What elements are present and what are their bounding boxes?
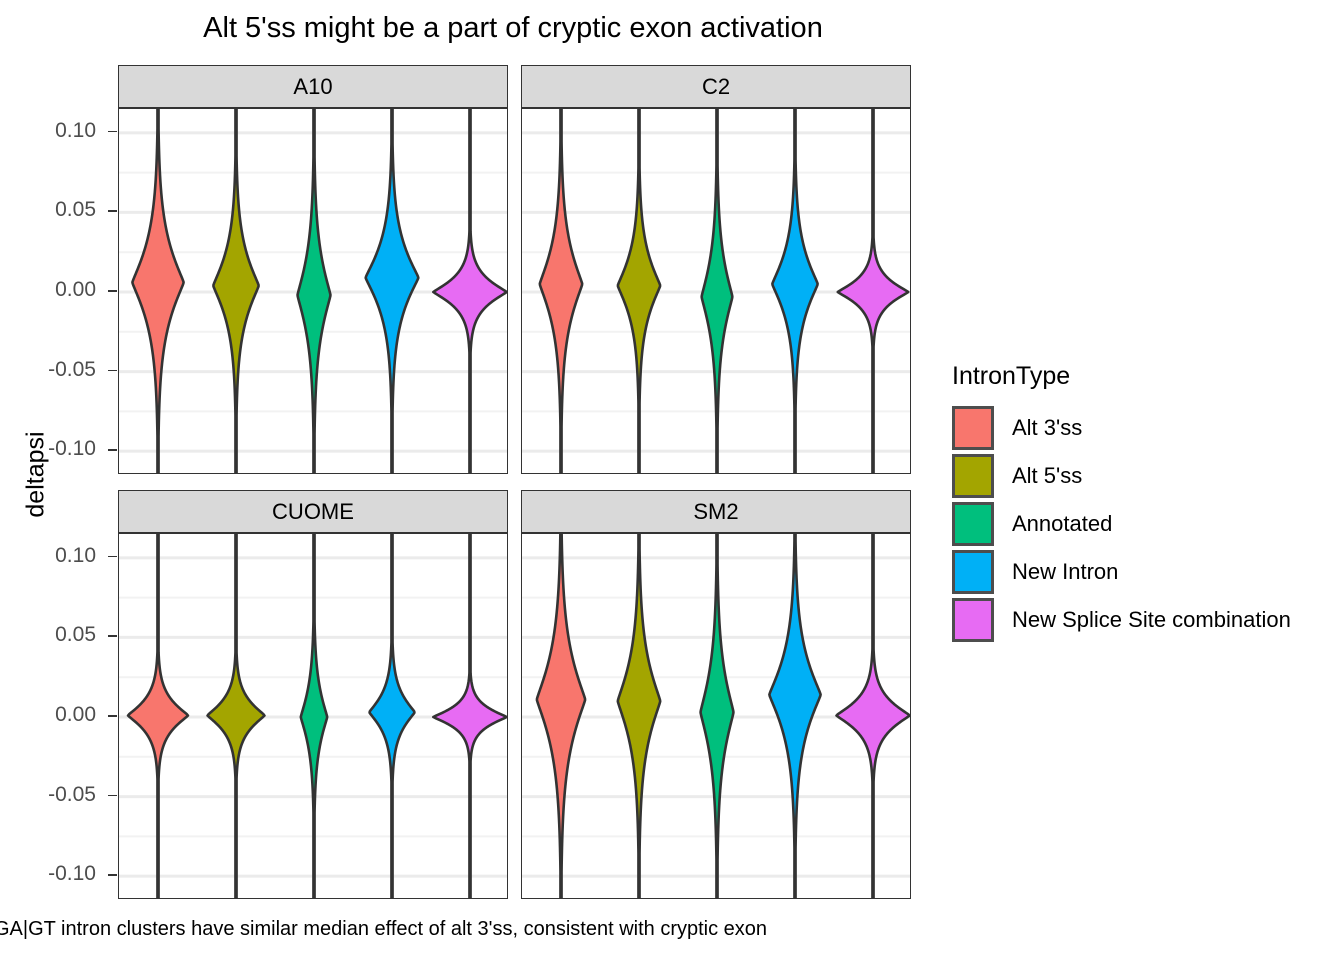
legend-item-4[interactable]: New Splice Site combination <box>952 598 1291 642</box>
y-axis-tick-label: 0.10 <box>26 544 96 568</box>
legend-title: IntronType <box>952 362 1070 391</box>
y-axis-tick-label: 0.10 <box>26 119 96 143</box>
facet-strip-label: CUOME <box>272 499 354 525</box>
violin-c2-4 <box>838 109 908 474</box>
y-tick-row: 0.00 <box>26 703 96 727</box>
violin-sm2-1 <box>618 534 660 899</box>
y-axis-title: deltapsi <box>22 415 51 535</box>
violin-a10-2 <box>298 109 331 474</box>
page-title: Alt 5'ss might be a part of cryptic exon… <box>118 10 908 46</box>
y-tick-row: 0.10 <box>26 119 96 143</box>
legend-item-label: Alt 5'ss <box>1012 463 1082 489</box>
y-tick-row: -0.10 <box>26 437 96 461</box>
violin-plot-figure: Alt 5'ss might be a part of cryptic exon… <box>0 0 1344 960</box>
legend-item-label: New Splice Site combination <box>1012 607 1291 633</box>
y-tick-row: 0.05 <box>26 198 96 222</box>
y-axis-tick-mark <box>108 874 117 876</box>
y-axis-tick-label: 0.05 <box>26 623 96 647</box>
violin-c2-0 <box>540 109 582 474</box>
legend-item-3[interactable]: New Intron <box>952 550 1118 594</box>
facet-strip-c2: C2 <box>521 65 911 108</box>
violin-a10-4 <box>433 109 506 474</box>
facet-panel-cuome <box>118 533 508 899</box>
y-tick-row: 0.10 <box>26 544 96 568</box>
y-axis-tick-label: -0.05 <box>26 783 96 807</box>
legend-color-swatch <box>952 550 994 594</box>
facet-strip-label: SM2 <box>693 499 738 525</box>
figure-caption: GA|GT intron clusters have similar media… <box>0 918 767 941</box>
y-axis-tick-label: -0.10 <box>26 437 96 461</box>
violin-a10-1 <box>213 109 258 474</box>
legend-item-label: New Intron <box>1012 559 1118 585</box>
y-tick-row: -0.05 <box>26 783 96 807</box>
violin-c2-2 <box>702 109 733 474</box>
facet-panel-sm2 <box>521 533 911 899</box>
y-axis-tick-mark <box>108 715 117 717</box>
violin-sm2-0 <box>537 534 585 899</box>
y-axis-tick-label: -0.10 <box>26 862 96 886</box>
y-tick-row: 0.00 <box>26 278 96 302</box>
y-axis-tick-label: 0.05 <box>26 198 96 222</box>
violin-c2-3 <box>772 109 817 474</box>
facet-strip-a10: A10 <box>118 65 508 108</box>
legend-item-1[interactable]: Alt 5'ss <box>952 454 1082 498</box>
y-axis-tick-mark <box>108 795 117 797</box>
legend-color-swatch <box>952 454 994 498</box>
y-axis-tick-mark <box>108 210 117 212</box>
violin-cuome-0 <box>128 534 188 899</box>
violin-a10-0 <box>132 109 183 474</box>
y-axis-tick-mark <box>108 290 117 292</box>
legend-color-swatch <box>952 406 994 450</box>
y-axis-tick-label: -0.05 <box>26 358 96 382</box>
y-axis-tick-mark <box>108 449 117 451</box>
violin-sm2-4 <box>837 534 910 899</box>
legend-item-2[interactable]: Annotated <box>952 502 1112 546</box>
violin-a10-3 <box>366 109 419 474</box>
violin-c2-1 <box>618 109 660 474</box>
y-axis-tick-mark <box>108 556 117 558</box>
facet-strip-label: C2 <box>702 74 730 100</box>
violin-sm2-3 <box>769 534 820 899</box>
facet-panel-c2 <box>521 108 911 474</box>
y-axis-tick-mark <box>108 635 117 637</box>
violin-cuome-3 <box>370 534 415 899</box>
legend-color-swatch <box>952 502 994 546</box>
violin-cuome-4 <box>433 534 506 899</box>
y-axis-tick-mark <box>108 370 117 372</box>
facet-strip-cuome: CUOME <box>118 490 508 533</box>
violin-cuome-1 <box>208 534 265 899</box>
y-axis-tick-label: 0.00 <box>26 703 96 727</box>
legend-color-swatch <box>952 598 994 642</box>
legend-item-0[interactable]: Alt 3'ss <box>952 406 1082 450</box>
facet-strip-label: A10 <box>293 74 332 100</box>
legend-item-label: Alt 3'ss <box>1012 415 1082 441</box>
y-tick-row: 0.05 <box>26 623 96 647</box>
y-axis-tick-label: 0.00 <box>26 278 96 302</box>
violin-sm2-2 <box>701 534 734 899</box>
y-tick-row: -0.05 <box>26 358 96 382</box>
facet-panel-a10 <box>118 108 508 474</box>
violin-cuome-2 <box>301 534 327 899</box>
facet-strip-sm2: SM2 <box>521 490 911 533</box>
y-axis-tick-mark <box>108 131 117 133</box>
y-tick-row: -0.10 <box>26 862 96 886</box>
legend-item-label: Annotated <box>1012 511 1112 537</box>
